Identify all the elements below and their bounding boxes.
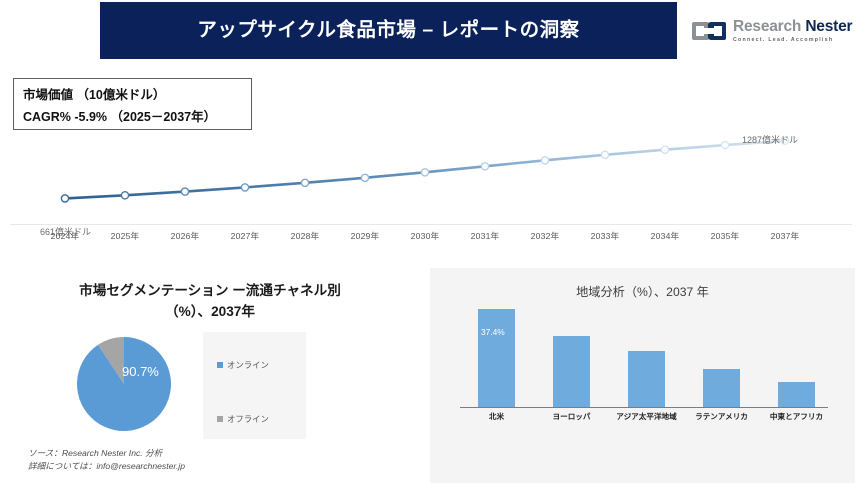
segmentation-pie-chart [69,329,179,439]
year-axis-label: 2030年 [411,230,440,242]
bar [478,309,515,407]
line-data-point [721,142,728,149]
bar-value-label: 37.4% [481,327,505,337]
report-infographic: アップサイクル食品市場 – レポートの洞察 Research Nester Co… [0,0,862,485]
year-axis-label: 2025年 [111,230,140,242]
year-axis-label: 2035年 [711,230,740,242]
line-chart-svg [0,60,862,250]
line-data-point [481,163,488,170]
logo-word-research: Research [733,18,801,35]
segmentation-title: 市場セグメンテーション ー流通チャネル別 （%）、2037年 [10,280,410,322]
regional-analysis-panel: 地域分析（%）、2037 年 37.4%北米ヨーロッパアジア太平洋地域ラテンアメ… [430,268,855,483]
header-banner: アップサイクル食品市場 – レポートの洞察 [100,2,677,59]
line-end-value-label: 1287億米ドル [742,133,798,146]
research-nester-logo-icon [692,18,726,44]
year-axis-label: 2024年 [51,230,80,242]
line-chart-axis-rule [10,224,852,225]
line-data-point [301,179,308,186]
year-axis-label: 2032年 [531,230,560,242]
legend-label-offline: オフライン [227,413,269,425]
year-axis-label: 2027年 [231,230,260,242]
year-axis-label: 2029年 [351,230,380,242]
brand-logo: Research Nester Connect. Lead. Accomplis… [692,12,858,50]
year-axis-label: 2028年 [291,230,320,242]
bar [553,336,590,407]
regional-bar-chart: 37.4%北米ヨーロッパアジア太平洋地域ラテンアメリカ中東とアフリカ [430,268,855,483]
logo-wordmark: Research Nester Connect. Lead. Accomplis… [733,19,852,43]
logo-tagline: Connect. Lead. Accomplish [733,38,852,43]
market-value-line-chart: 661億米ドル 1287億米ドル [0,60,862,250]
legend-item-offline: オフライン [217,413,269,425]
line-data-point [241,184,248,191]
segmentation-title-line1: 市場セグメンテーション ー流通チャネル別 [10,280,410,301]
line-data-point [61,195,68,202]
line-data-point [601,151,608,158]
logo-word-nester: Nester [805,18,852,35]
year-axis-label: 2031年 [471,230,500,242]
line-data-point [181,188,188,195]
line-data-point [541,157,548,164]
legend-item-online: オンライン [217,359,269,371]
pie-value-label: 90.7% [122,364,159,379]
page-title: アップサイクル食品市場 – レポートの洞察 [197,21,579,41]
year-axis-label: 2033年 [591,230,620,242]
line-data-point [421,169,428,176]
bar-category-label: ヨーロッパ [553,411,591,422]
line-chart-year-axis: 2024年2025年2026年2027年2028年2029年2030年2031年… [0,230,862,246]
bar-category-label: 中東とアフリカ [770,411,823,422]
bar-chart-baseline [460,407,828,408]
legend-swatch-online [217,362,223,368]
segmentation-title-line2: （%）、2037年 [10,301,410,322]
legend-swatch-offline [217,416,223,422]
line-data-point [661,146,668,153]
year-axis-label: 2034年 [651,230,680,242]
bar [628,351,665,407]
year-axis-label: 2037年 [771,230,800,242]
source-note: ソース：Research Nester Inc. 分析 詳細については：info… [28,447,185,474]
line-data-point [361,174,368,181]
legend-label-online: オンライン [227,359,269,371]
bar-category-label: ラテンアメリカ [695,411,748,422]
year-axis-label: 2026年 [171,230,200,242]
bar [703,369,740,407]
bar-category-label: 北米 [489,411,504,422]
source-line-contact: 詳細については：info@researchnester.jp [28,460,185,473]
bar [778,382,815,407]
pie-legend: オンライン オフライン [203,332,306,439]
bar-category-label: アジア太平洋地域 [616,411,676,422]
line-data-point [121,192,128,199]
source-line-analysis: ソース：Research Nester Inc. 分析 [28,447,185,460]
